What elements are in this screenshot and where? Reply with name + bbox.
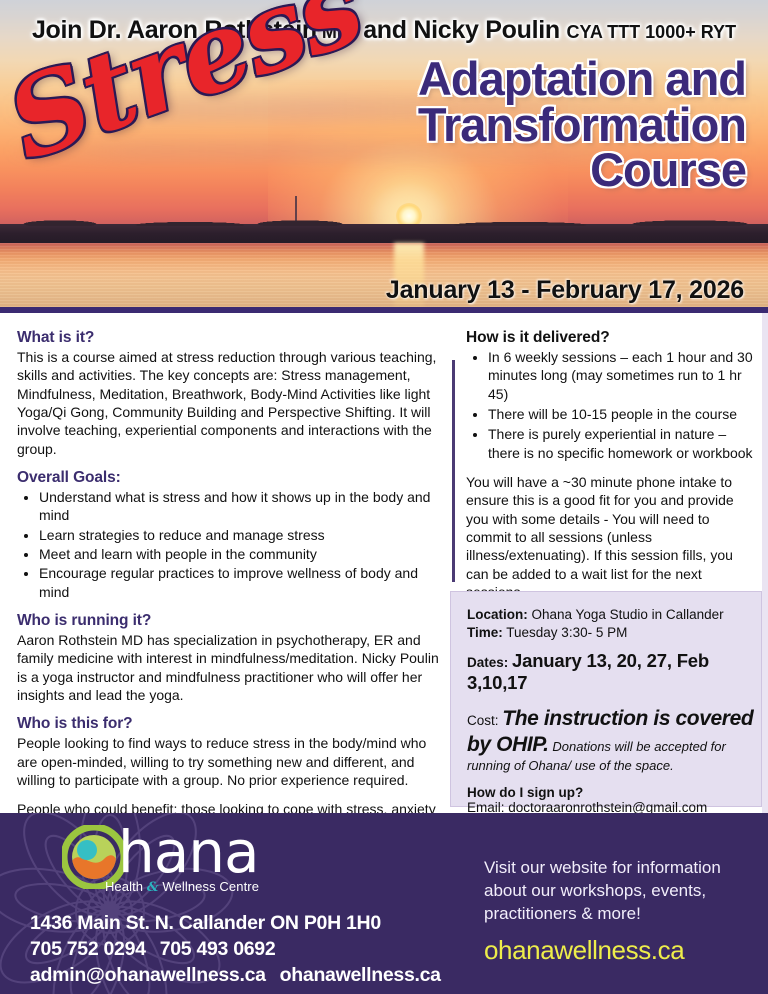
course-date-range: January 13 - February 17, 2026: [386, 276, 744, 305]
info-time-row: Time: Tuesday 3:30- 5 PM: [467, 624, 757, 642]
contact-email[interactable]: admin@ohanawellness.ca: [30, 964, 266, 986]
promo-block: Visit our website for information about …: [484, 857, 764, 966]
heading-overall-goals: Overall Goals:: [17, 469, 445, 487]
heading-who-is-this-for: Who is this for?: [17, 715, 445, 733]
promo-website-link[interactable]: ohanawellness.ca: [484, 935, 764, 966]
ohana-wordmark: hana: [118, 823, 259, 881]
info-time-value: Tuesday 3:30- 5 PM: [506, 625, 627, 640]
info-cost-label: Cost:: [467, 713, 499, 728]
list-item: There will be 10-15 people in the course: [488, 405, 754, 423]
list-item: Meet and learn with people in the commun…: [39, 545, 445, 563]
title-line-1: Adaptation and: [306, 56, 746, 102]
tagline-health: Health: [105, 879, 143, 894]
contact-phone-1: 705 752 0294: [30, 938, 146, 960]
title-line-3: Course: [306, 147, 746, 193]
info-cost-row: Cost: The instruction is covered by OHIP…: [467, 706, 757, 774]
ampersand-icon: &: [147, 880, 159, 895]
column-divider: [452, 360, 455, 582]
contact-block: 1436 Main St. N. Callander ON P0H 1H0 70…: [30, 911, 450, 989]
list-overall-goals: Understand what is stress and how it sho…: [17, 488, 445, 601]
left-column: What is it? This is a course aimed at st…: [17, 329, 445, 866]
presenter-two-credential: CYA TTT 1000+ RYT: [567, 22, 737, 42]
promo-line-3: practitioners & more!: [484, 903, 764, 926]
contact-phone-2: 705 493 0692: [160, 938, 276, 960]
info-dates-label: Dates:: [467, 655, 508, 670]
heading-how-is-it-delivered: How is it delivered?: [466, 329, 754, 347]
tagline-wellness: Wellness Centre: [162, 879, 259, 894]
heading-how-do-i-sign-up: How do I sign up?: [467, 785, 757, 800]
course-title: Adaptation and Transformation Course: [306, 56, 746, 193]
list-delivery-details: In 6 weekly sessions – each 1 hour and 3…: [466, 348, 754, 462]
contact-address: 1436 Main St. N. Callander ON P0H 1H0: [30, 911, 450, 937]
list-item: Understand what is stress and how it sho…: [39, 488, 445, 525]
list-item: Learn strategies to reduce and manage st…: [39, 526, 445, 544]
text-who-is-running-it: Aaron Rothstein MD has specialization in…: [17, 631, 445, 704]
footer-bar: hana Health & Wellness Centre 1436 Main …: [0, 813, 768, 994]
text-who-is-this-for: People looking to find ways to reduce st…: [17, 734, 445, 789]
right-column: How is it delivered? In 6 weekly session…: [466, 329, 754, 612]
list-item: Encourage regular practices to improve w…: [39, 564, 445, 601]
info-location-value: Ohana Yoga Studio in Callander: [532, 607, 724, 622]
hero-banner: Join Dr. Aaron Rothstein MD and Nicky Po…: [0, 0, 768, 313]
title-line-2: Transformation: [306, 102, 746, 148]
promo-line-1: Visit our website for information: [484, 857, 764, 880]
list-item: There is purely experiential in nature –…: [488, 425, 754, 462]
details-info-box: Location: Ohana Yoga Studio in Callander…: [450, 591, 762, 807]
heading-what-is-it: What is it?: [17, 329, 445, 347]
promo-line-2: about our workshops, events,: [484, 880, 764, 903]
text-what-is-it: This is a course aimed at stress reducti…: [17, 348, 445, 458]
ohana-tagline: Health & Wellness Centre: [62, 879, 302, 895]
content-area: What is it? This is a course aimed at st…: [0, 313, 768, 813]
heading-who-is-running-it: Who is running it?: [17, 612, 445, 630]
info-location-label: Location:: [467, 607, 528, 622]
info-location-row: Location: Ohana Yoga Studio in Callander: [467, 606, 757, 624]
info-time-label: Time:: [467, 625, 503, 640]
text-phone-intake: You will have a ~30 minute phone intake …: [466, 473, 754, 601]
right-edge-strip: [762, 313, 768, 813]
info-dates-row: Dates: January 13, 20, 27, Feb 3,10,17: [467, 650, 757, 694]
list-item: In 6 weekly sessions – each 1 hour and 3…: [488, 348, 754, 403]
contact-phones: 705 752 0294705 493 0692: [30, 937, 450, 963]
contact-email-web: admin@ohanawellness.caohanawellness.ca: [30, 963, 450, 989]
contact-website[interactable]: ohanawellness.ca: [280, 964, 441, 986]
poster-root: Join Dr. Aaron Rothstein MD and Nicky Po…: [0, 0, 768, 994]
